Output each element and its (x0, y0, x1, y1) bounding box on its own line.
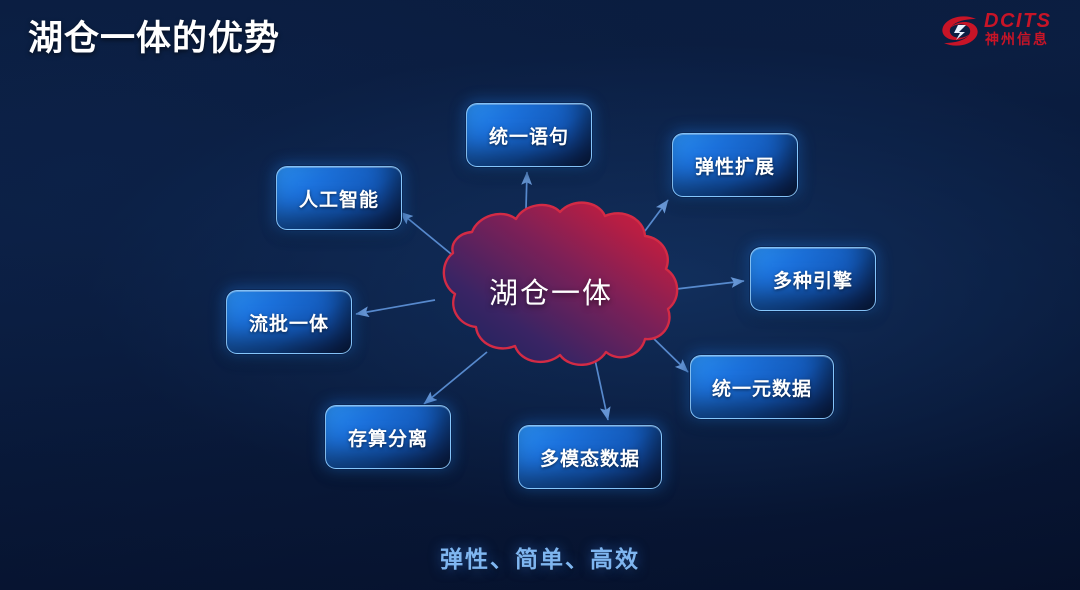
node-label: 流批一体 (249, 309, 329, 336)
node-storage-compute-separation[interactable]: 存算分离 (325, 405, 451, 469)
node-label: 多种引擎 (773, 266, 853, 293)
node-label: 弹性扩展 (695, 152, 775, 179)
arrow-to-unified-metadata (650, 335, 688, 372)
node-unified-metadata[interactable]: 统一元数据 (690, 355, 834, 419)
node-label: 人工智能 (299, 185, 379, 212)
arrow-to-multimodal-data (594, 355, 608, 420)
node-label: 存算分离 (348, 424, 428, 451)
slide-caption: 弹性、简单、高效 (0, 540, 1080, 574)
node-label: 多模态数据 (540, 444, 640, 471)
node-label: 统一元数据 (712, 374, 812, 401)
node-label: 统一语句 (489, 122, 569, 149)
node-elastic-scaling[interactable]: 弹性扩展 (672, 133, 798, 197)
node-artificial-intelligence[interactable]: 人工智能 (276, 166, 402, 230)
cloud-center-label: 湖仓一体 (451, 270, 651, 312)
arrow-to-storage-compute (424, 352, 487, 404)
slide-canvas: 湖仓一体的优势 DCITS 神州信息 (0, 0, 1080, 590)
arrow-to-ai (400, 212, 456, 258)
arrow-to-stream-batch (356, 300, 435, 314)
node-multimodal-data[interactable]: 多模态数据 (518, 425, 662, 489)
node-unified-syntax[interactable]: 统一语句 (466, 103, 592, 167)
node-multi-engine[interactable]: 多种引擎 (750, 247, 876, 311)
arrow-to-multi-engine (668, 281, 744, 290)
node-stream-batch-unified[interactable]: 流批一体 (226, 290, 352, 354)
